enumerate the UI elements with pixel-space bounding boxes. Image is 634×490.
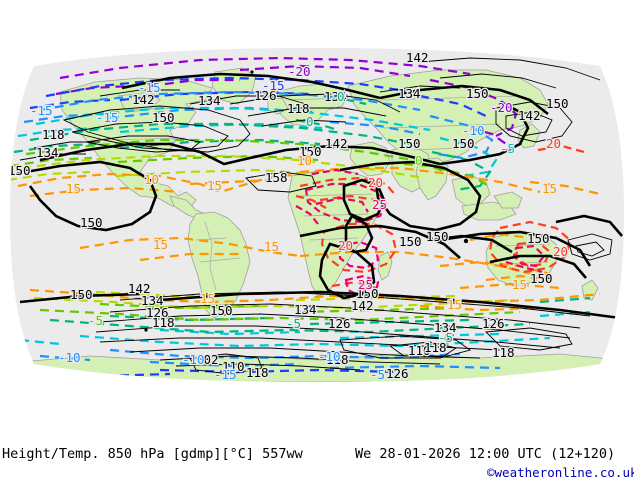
temperature-contour-label: -10 (58, 350, 81, 365)
height-contour-label: 150 (546, 96, 569, 111)
temperature-contour-label: -15 (30, 103, 53, 118)
height-contour-label: 126 (386, 366, 409, 381)
weather-map: 1421181341501501421501341261181341341421… (0, 0, 634, 430)
height-contour-label: 118 (492, 345, 515, 360)
temperature-contour-label: 20 (368, 175, 383, 190)
height-contour-label: 142 (351, 298, 374, 313)
valid-time-text: We 28-01-2026 12:00 UTC (12+120) (355, 446, 615, 462)
height-contour-label: 150 (398, 136, 421, 151)
height-contour-label: 150 (70, 287, 93, 302)
temperature-contour-label: 15 (66, 181, 81, 196)
height-contour-label: 126 (328, 316, 351, 331)
copyright-text[interactable]: ©weatheronline.co.uk (487, 465, 634, 480)
temperature-contour-label: -10 (462, 123, 485, 138)
height-contour-label: 150 (466, 86, 489, 101)
temperature-contour-label: -20 (288, 64, 311, 79)
temperature-contour-label: -10 (318, 349, 341, 364)
temperature-contour-label: 20 (553, 244, 568, 259)
temperature-contour-label: 15 (200, 291, 215, 306)
temperature-contour-label: 15 (542, 181, 557, 196)
height-contour-label: 150 (399, 234, 422, 249)
temperature-contour-label: 15 (207, 178, 222, 193)
height-contour-label: 142 (406, 50, 429, 65)
temperature-contour-label: 0 (306, 114, 314, 129)
height-contour-label: 134 (198, 93, 221, 108)
temperature-contour-label: 15 (264, 239, 279, 254)
height-contour-label: 118 (246, 365, 269, 380)
temperature-contour-label: 0 (415, 153, 423, 168)
temperature-contour-label: -15 (96, 110, 119, 125)
temperature-contour-label: -5 (500, 141, 515, 156)
chart-title: Height/Temp. 850 hPa [gdmp][°C] 557ww (2, 446, 303, 462)
temperature-contour-label: 25 (358, 277, 373, 292)
temperature-contour-label: -5 (370, 367, 385, 382)
height-contour-label: 150 (152, 110, 175, 125)
temperature-contour-label: -5 (286, 316, 301, 331)
height-contour-label: 134 (398, 86, 421, 101)
temperature-contour-label: -10 (182, 352, 205, 367)
height-contour-label: 134 (294, 302, 317, 317)
height-contour-label: 126 (482, 316, 505, 331)
map-canvas: 1421181341501501421501341261181341341421… (0, 0, 634, 430)
height-contour-label: 150 (527, 231, 550, 246)
height-contour-label: 150 (426, 229, 449, 244)
footer-bar: Height/Temp. 850 hPa [gdmp][°C] 557ww We… (0, 430, 634, 490)
height-contour-label: 134 (36, 145, 59, 160)
height-contour-label: 142 (325, 136, 348, 151)
height-contour-label: 118 (152, 315, 175, 330)
height-contour-label: 150 (530, 271, 553, 286)
height-contour-label: 150 (80, 215, 103, 230)
temperature-contour-label: -20 (490, 100, 513, 115)
height-contour-label: 150 (452, 136, 475, 151)
temperature-contour-label: 10 (144, 172, 159, 187)
temperature-contour-label: -5 (88, 313, 103, 328)
temperature-contour-label: 15 (512, 277, 527, 292)
temperature-contour-label: -5 (438, 330, 453, 345)
temperature-contour-label: 20 (338, 238, 353, 253)
temperature-contour-label: -15 (138, 80, 161, 95)
temperature-contour-label: 10 (297, 153, 312, 168)
temperature-contour-label: 15 (153, 237, 168, 252)
temperature-contour-label: -15 (214, 367, 237, 382)
temperature-contour-label: 0 (337, 89, 345, 104)
globe-group: 1421181341501501421501341261181341341421… (0, 0, 634, 430)
height-contour-label: 158 (265, 170, 288, 185)
temperature-contour-label: 25 (372, 197, 387, 212)
height-contour-label: 118 (42, 127, 65, 142)
height-contour-label: 142 (518, 108, 541, 123)
temperature-contour-label: -15 (262, 78, 285, 93)
temperature-contour-label: 15 (447, 297, 462, 312)
temperature-contour-label: 20 (546, 136, 561, 151)
